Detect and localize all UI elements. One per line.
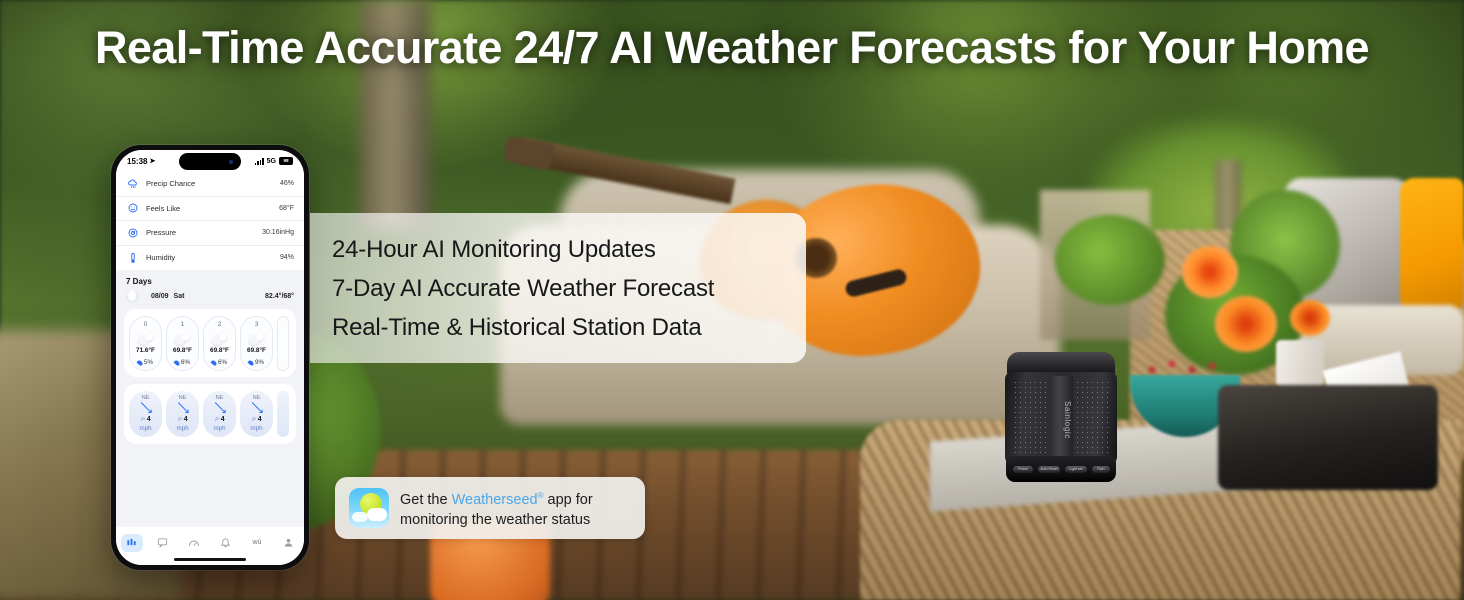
hourly-hour: 3 — [255, 321, 259, 328]
hourly-precip-value: 5% — [144, 359, 153, 366]
metric-row-precip-chance[interactable]: Precip Chance 46% — [116, 172, 304, 197]
wind-flag-icon: ⚐ — [251, 417, 255, 423]
metric-row-pressure[interactable]: Pressure 30.16inHg — [116, 221, 304, 246]
hourly-precip-value: 9% — [255, 359, 264, 366]
forecast-day-row[interactable]: 08/09 Sat 82.4°/68° — [116, 290, 304, 309]
seven-days-heading: 7 Days — [116, 270, 304, 290]
wind-unit: mph — [213, 425, 225, 432]
hourly-cell[interactable]: 3 69.8°F 9% — [240, 316, 273, 371]
humidity-thermometer-icon — [126, 251, 139, 264]
phone-screen: 15:38 ➤ 5G 98 Precip — [116, 150, 304, 565]
hourly-precip: 6% — [175, 359, 190, 366]
feature-item-3: Real-Time & Historical Station Data — [332, 308, 806, 347]
water-drop-icon — [136, 359, 143, 366]
cloud-small-icon — [352, 512, 368, 522]
tab-alerts[interactable] — [215, 534, 237, 552]
wind-flag-icon: ⚐ — [140, 417, 144, 423]
hourly-temp: 69.8°F — [210, 347, 229, 354]
wind-arrow-icon: ⟶ — [136, 398, 156, 418]
hourly-cell[interactable]: 0 71.6°F 5% — [129, 316, 162, 371]
app-promo-line-2: monitoring the weather status — [400, 510, 593, 530]
feature-list-overlay: 24-Hour AI Monitoring Updates 7-Day AI A… — [310, 213, 806, 363]
feature-item-2: 7-Day AI Accurate Weather Forecast — [332, 269, 806, 308]
hourly-hour: 2 — [218, 321, 222, 328]
typewriter — [1218, 385, 1438, 490]
phone-mockup: 15:38 ➤ 5G 98 Precip — [111, 145, 309, 570]
wind-flag-icon: ⚐ — [177, 417, 181, 423]
wind-cell[interactable]: NE ⟶ ⚐4 mph — [166, 391, 199, 437]
metric-value: 30.16inHg — [262, 229, 294, 236]
device-button-auto-reset[interactable]: Auto Reset — [1038, 466, 1060, 473]
hourly-precip: 6% — [212, 359, 227, 366]
wind-lines-icon — [353, 515, 366, 517]
feels-like-icon — [126, 202, 139, 215]
metric-label: Precip Chance — [146, 179, 280, 188]
water-drop-icon — [247, 359, 254, 366]
hibiscus-flower-3 — [1290, 300, 1330, 336]
pressure-gauge-icon — [126, 226, 139, 239]
hourly-temp: 71.6°F — [136, 347, 155, 354]
hourly-temp: 69.8°F — [247, 347, 266, 354]
hourly-cell-partial[interactable] — [277, 316, 289, 371]
forecast-temp-range: 82.4°/68° — [265, 293, 294, 300]
device-button-rain[interactable]: Rain — [1092, 466, 1110, 473]
hourly-cell[interactable]: 1 69.8°F 6% — [166, 316, 199, 371]
front-camera-icon — [229, 160, 233, 164]
background-orange-cushion — [1400, 178, 1464, 313]
tab-chat[interactable] — [152, 534, 174, 552]
wind-unit: mph — [139, 425, 151, 432]
brand-label: Weatherseed — [452, 492, 538, 508]
wind-unit: mph — [176, 425, 188, 432]
device-button-light-set[interactable]: Light set — [1065, 466, 1087, 473]
phone-status-bar: 15:38 ➤ 5G 98 — [116, 150, 304, 172]
page-title: Real-Time Accurate 24/7 AI Weather Forec… — [0, 22, 1464, 74]
wind-arrow-icon: ⟶ — [173, 398, 193, 418]
feature-item-1: 24-Hour AI Monitoring Updates — [332, 230, 806, 269]
wind-cell[interactable]: NE ⟶ ⚐4 mph — [240, 391, 273, 437]
weather-station-device: Sainlogic Power Auto Reset Light set Rai… — [1005, 352, 1117, 482]
metric-label: Feels Like — [146, 204, 279, 213]
network-label: 5G — [267, 158, 276, 165]
app-promo-line-1: Get the Weatherseed® app for — [400, 486, 593, 510]
metric-value: 68°F — [279, 205, 294, 212]
device-speaker-grill-left — [1013, 380, 1049, 454]
cloud-icon — [247, 331, 266, 345]
promo-prefix: Get the — [400, 492, 452, 508]
hourly-precip-value: 6% — [181, 359, 190, 366]
metric-label: Humidity — [146, 253, 280, 262]
metric-row-humidity[interactable]: Humidity 94% — [116, 246, 304, 271]
forecast-weekday: Sat — [174, 293, 185, 300]
metric-value: 46% — [280, 180, 294, 187]
metrics-list: Precip Chance 46% Feels Like 68°F — [116, 172, 304, 270]
app-promo-text: Get the Weatherseed® app for monitoring … — [400, 486, 593, 530]
water-drop-icon — [173, 359, 180, 366]
cloud-icon — [210, 331, 229, 345]
tab-gauge[interactable] — [183, 534, 205, 552]
wind-unit: mph — [250, 425, 262, 432]
brand-name: Weatherseed® — [452, 492, 544, 508]
wind-cell[interactable]: NE ⟶ ⚐4 mph — [129, 391, 162, 437]
cellular-bars-icon — [255, 158, 264, 165]
wind-cell-partial[interactable] — [277, 391, 289, 437]
home-indicator — [174, 558, 246, 561]
status-bar-time: 15:38 — [127, 157, 147, 166]
device-button-power[interactable]: Power — [1013, 466, 1033, 473]
wind-forecast-card: NE ⟶ ⚐4 mph NE ⟶ ⚐4 mph NE ⟶ ⚐4 mph — [124, 384, 296, 444]
device-speaker-grill-right — [1075, 380, 1111, 454]
hibiscus-flower-2 — [1215, 296, 1277, 352]
moon-cloud-icon — [126, 290, 139, 303]
weather-app-icon — [349, 488, 389, 528]
coffee-mug — [1276, 340, 1324, 390]
tab-wu[interactable]: wú — [246, 534, 268, 552]
tab-dashboard[interactable] — [121, 534, 143, 552]
battery-icon: 98 — [279, 157, 293, 165]
tab-profile[interactable] — [277, 534, 299, 552]
hourly-precip-value: 6% — [218, 359, 227, 366]
hibiscus-flower-1 — [1182, 246, 1238, 298]
wind-arrow-icon: ⟶ — [247, 398, 267, 418]
hourly-precip: 9% — [249, 359, 264, 366]
forecast-date: 08/09 — [151, 293, 169, 300]
precipitation-cloud-icon — [126, 177, 139, 190]
hero-banner: Sainlogic Power Auto Reset Light set Rai… — [0, 0, 1464, 600]
hourly-temp: 69.8°F — [173, 347, 192, 354]
hourly-hour: 1 — [181, 321, 185, 328]
wind-cell[interactable]: NE ⟶ ⚐4 mph — [203, 391, 236, 437]
dynamic-island — [179, 153, 241, 170]
device-brand-label: Sainlogic — [1052, 396, 1072, 444]
water-drop-icon — [210, 359, 217, 366]
background-foliage-clump-1 — [1055, 215, 1165, 305]
promo-suffix: app for — [543, 492, 592, 508]
location-arrow-icon: ➤ — [149, 157, 155, 165]
wind-flag-icon: ⚐ — [214, 417, 218, 423]
metric-label: Pressure — [146, 228, 262, 237]
hourly-precip: 5% — [138, 359, 153, 366]
hourly-forecast-card: 0 71.6°F 5% 1 69.8°F 6% 2 69.8°F 6% — [124, 309, 296, 377]
wind-arrow-icon: ⟶ — [210, 398, 230, 418]
hourly-cell[interactable]: 2 69.8°F 6% — [203, 316, 236, 371]
cloud-icon — [173, 331, 192, 345]
metric-row-feels-like[interactable]: Feels Like 68°F — [116, 197, 304, 222]
cloud-icon — [367, 508, 387, 521]
cloud-icon — [136, 331, 155, 345]
app-promo-badge[interactable]: Get the Weatherseed® app for monitoring … — [335, 477, 645, 539]
metric-value: 94% — [280, 254, 294, 261]
hourly-hour: 0 — [144, 321, 148, 328]
